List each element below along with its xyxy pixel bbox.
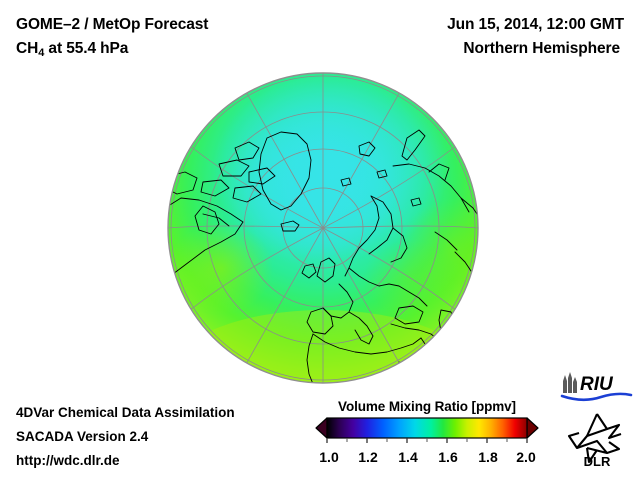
region-label: Northern Hemisphere bbox=[294, 38, 624, 60]
footer-url: http://wdc.dlr.de bbox=[16, 449, 235, 473]
colorbar-strip-wrap bbox=[314, 417, 540, 448]
dlr-wordmark: DLR bbox=[584, 454, 611, 468]
dlr-logo: DLR bbox=[566, 412, 628, 468]
footer-method: 4DVar Chemical Data Assimilation bbox=[16, 401, 235, 425]
colorbar-extend-low bbox=[316, 418, 327, 438]
riu-wordmark: RIU bbox=[580, 374, 614, 395]
header-right: Jun 15, 2014, 12:00 GMT Northern Hemisph… bbox=[294, 14, 624, 60]
colorbar-extend-high bbox=[527, 418, 538, 438]
colorbar-tick-4: 1.6 bbox=[438, 449, 457, 465]
colorbar: Volume Mixing Ratio [ppmv] bbox=[314, 399, 540, 469]
colorbar-tick-6: 2.0 bbox=[516, 449, 535, 465]
orthographic-projection bbox=[163, 72, 483, 384]
species-label-suffix: at 55.4 hPa bbox=[44, 40, 128, 57]
footer-credits: 4DVar Chemical Data Assimilation SACADA … bbox=[16, 401, 235, 473]
globe-map bbox=[163, 72, 483, 384]
valid-datetime: Jun 15, 2014, 12:00 GMT bbox=[294, 14, 624, 36]
colorbar-tick-3: 1.4 bbox=[398, 449, 417, 465]
colorbar-gradient bbox=[327, 418, 527, 438]
colorbar-tick-1: 1.0 bbox=[319, 449, 338, 465]
colorbar-title: Volume Mixing Ratio [ppmv] bbox=[314, 399, 540, 414]
colorbar-tick-labels: 1.0 1.2 1.4 1.6 1.8 2.0 bbox=[314, 449, 540, 469]
colorbar-tick-5: 1.8 bbox=[478, 449, 497, 465]
figure-canvas: GOME–2 / MetOp Forecast CH4 at 55.4 hPa … bbox=[0, 0, 640, 480]
species-label-subscript: 4 bbox=[38, 47, 44, 59]
colorbar-minor-ticks bbox=[347, 438, 507, 442]
species-label-prefix: CH bbox=[16, 40, 38, 57]
colorbar-tick-2: 1.2 bbox=[358, 449, 377, 465]
colorbar-strip bbox=[314, 417, 540, 443]
footer-version: SACADA Version 2.4 bbox=[16, 425, 235, 449]
riu-tower-icon bbox=[563, 372, 577, 393]
riu-logo: RIU bbox=[559, 371, 633, 403]
